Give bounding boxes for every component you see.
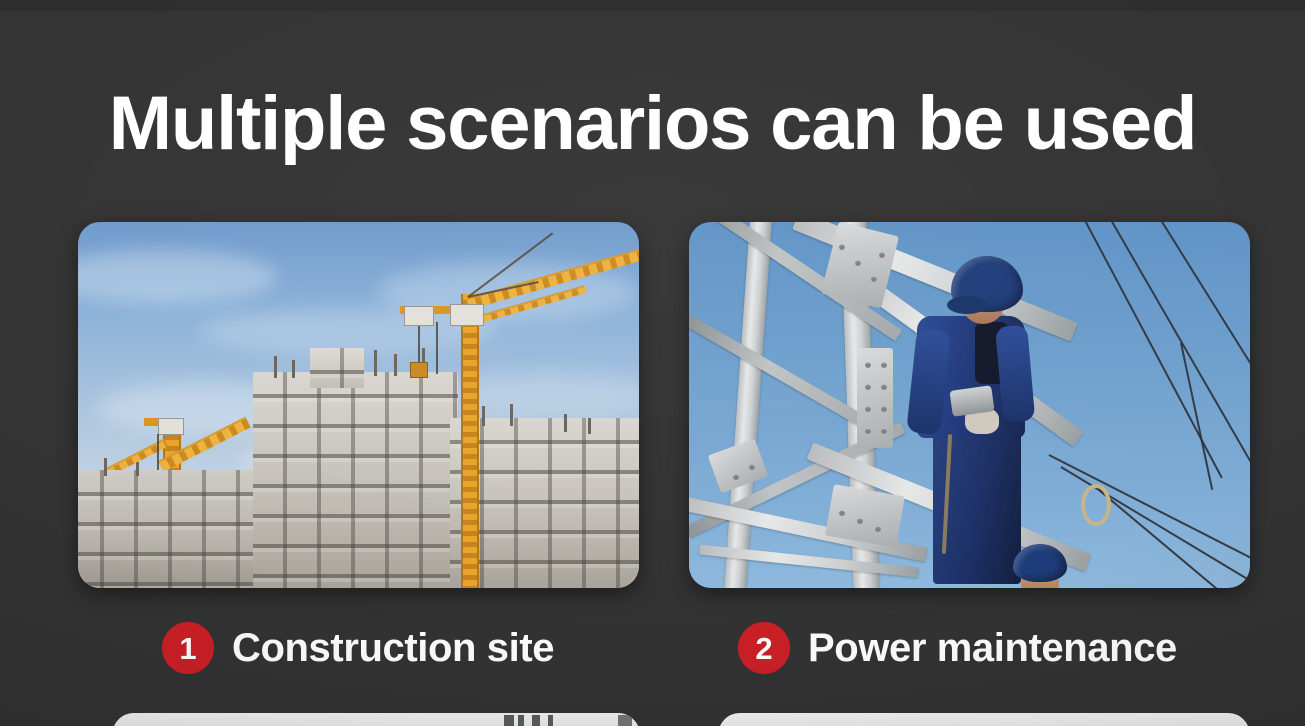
next-photo-right-content xyxy=(718,713,1250,726)
building-under-construction xyxy=(253,372,458,588)
rebar xyxy=(564,414,567,432)
rigging-ring xyxy=(1081,484,1111,526)
building-under-construction xyxy=(78,470,262,588)
next-scenario-photo-right[interactable] xyxy=(718,713,1250,726)
bolt xyxy=(733,474,739,480)
photo-detail xyxy=(618,715,632,726)
rebar xyxy=(482,406,485,426)
bolt xyxy=(881,362,887,368)
bolt xyxy=(839,244,845,250)
rebar xyxy=(274,356,277,378)
top-edge-band xyxy=(0,0,1305,11)
scenario-label-2: Power maintenance xyxy=(808,626,1177,671)
photo-detail xyxy=(532,715,540,726)
bolt xyxy=(749,464,755,470)
page-title: Multiple scenarios can be used xyxy=(0,78,1305,170)
bolt xyxy=(865,406,871,412)
rebar xyxy=(104,458,107,476)
bolt xyxy=(855,260,861,266)
slide: Multiple scenarios can be used xyxy=(0,0,1305,726)
construction-site-photo xyxy=(78,222,639,588)
bolt xyxy=(875,526,881,532)
next-scenario-photo-left[interactable] xyxy=(112,713,640,726)
rebar xyxy=(136,462,139,476)
rebar xyxy=(292,360,295,378)
bolt xyxy=(879,252,885,258)
bolt xyxy=(857,518,863,524)
power-maintenance-photo xyxy=(689,222,1250,588)
bolt xyxy=(865,428,871,434)
scenario-number-badge-2: 2 xyxy=(738,622,790,674)
bolt xyxy=(881,406,887,412)
rebar xyxy=(510,404,513,426)
hard-hat-brim xyxy=(947,296,987,314)
photo-detail xyxy=(504,715,514,726)
scenario-caption-1: 1 Construction site xyxy=(162,620,554,676)
bolt xyxy=(881,428,887,434)
bolt xyxy=(881,384,887,390)
scenario-caption-2: 2 Power maintenance xyxy=(738,620,1177,676)
rebar xyxy=(394,354,397,376)
scenario-card-1[interactable] xyxy=(78,222,639,588)
photo-detail xyxy=(548,715,553,726)
bolt xyxy=(865,384,871,390)
scenario-card-2[interactable] xyxy=(689,222,1250,588)
tower-gusset xyxy=(857,348,893,448)
bolt xyxy=(865,362,871,368)
building-core xyxy=(310,348,364,388)
photo-detail xyxy=(518,715,524,726)
rebar xyxy=(374,350,377,376)
crane-hook xyxy=(410,362,428,378)
bolt xyxy=(839,510,845,516)
next-photo-left-content xyxy=(112,713,640,726)
scenario-number-badge-1: 1 xyxy=(162,622,214,674)
scenario-label-1: Construction site xyxy=(232,626,554,671)
rebar xyxy=(588,418,591,434)
bolt xyxy=(871,276,877,282)
